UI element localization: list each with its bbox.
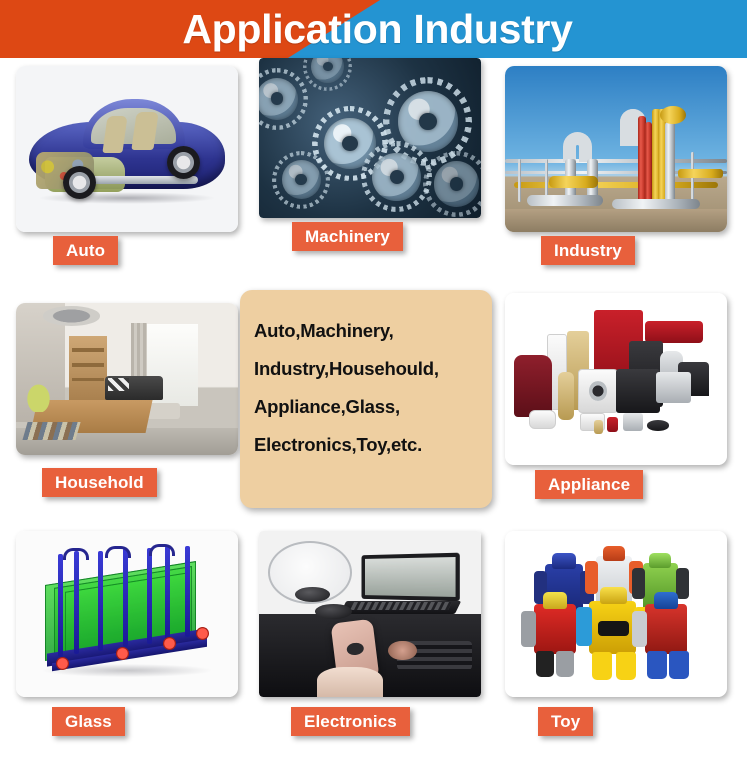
blue-metal-gears-photo [259,58,481,218]
card-label-electronics[interactable]: Electronics [291,707,410,736]
card-image-electronics [259,531,481,697]
card-image-auto [16,66,238,232]
card-label-glass[interactable]: Glass [52,707,125,736]
card-label-toy[interactable]: Toy [538,707,593,736]
industries-summary-panel: Auto,Machinery, Industry,Househould, App… [240,290,492,508]
card-image-household [16,303,238,455]
card-image-glass [16,531,238,697]
card-label-appliance[interactable]: Appliance [535,470,643,499]
summary-line-1: Auto,Machinery, [254,312,480,350]
card-label-auto[interactable]: Auto [53,236,118,265]
living-room-interior-photo [16,303,238,455]
industry-card-grid: Auto Machinery [0,58,747,757]
cutaway-car-illustration [16,66,238,232]
banner-header: Application Industry [0,0,747,58]
card-label-industry[interactable]: Industry [541,236,635,265]
card-image-appliance [505,293,727,465]
page-title: Application Industry [0,0,747,58]
application-industry-banner: Application Industry [0,0,747,757]
home-appliances-group-photo [505,293,727,465]
card-label-household[interactable]: Household [42,468,157,497]
card-image-industry [505,66,727,232]
summary-line-2: Industry,Househould, [254,350,480,388]
card-label-machinery[interactable]: Machinery [292,222,403,251]
card-image-toy [505,531,727,697]
summary-line-3: Appliance,Glass, [254,388,480,426]
card-image-machinery [259,58,481,218]
refinery-pipelines-photo [505,66,727,232]
green-glass-panels-on-blue-rack [16,531,238,697]
laptop-magnet-and-phone-car-mount [259,531,481,697]
summary-line-4: Electronics,Toy,etc. [254,426,480,464]
transformer-robot-toys-photo [505,531,727,697]
